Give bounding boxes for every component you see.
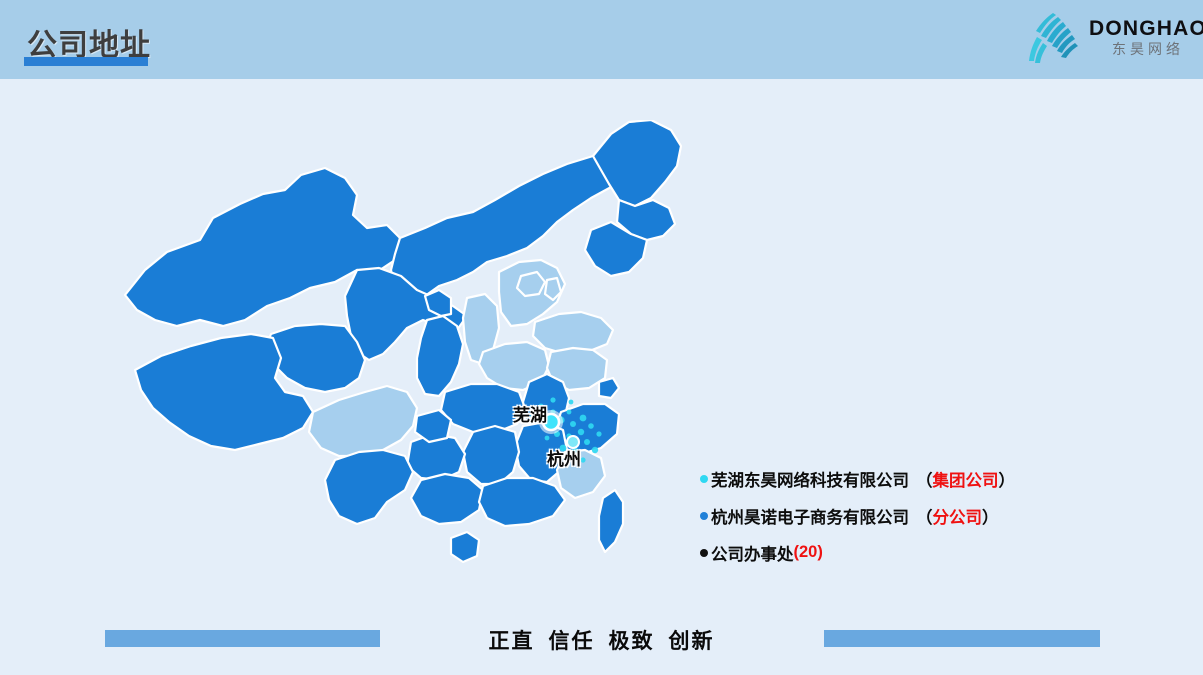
legend-paren-close: ）: [982, 504, 999, 528]
china-map[interactable]: 芜湖 杭州: [95, 120, 695, 610]
legend-company-tag: 分公司: [933, 504, 983, 528]
slogan-word-4: 创新: [669, 625, 715, 655]
legend-company-name: 杭州昊诺电子商务有限公司: [711, 504, 909, 528]
province-guangxi: [411, 474, 483, 524]
province-hunan: [463, 426, 519, 484]
legend-item-branch[interactable]: 杭州昊诺电子商务有限公司 （ 分公司 ）: [700, 497, 1130, 534]
legend-paren-open: （: [916, 467, 933, 491]
legend-company-name: 公司办事处: [711, 541, 794, 565]
legend-item-offices[interactable]: 公司办事处 (20): [700, 534, 1130, 571]
legend-company-tag: 集团公司: [933, 467, 999, 491]
province-shaanxi: [417, 316, 463, 396]
slogan-word-1: 正直: [489, 625, 535, 655]
donghao-fan-logo-icon: [1023, 10, 1085, 68]
company-legend: 芜湖东昊网络科技有限公司 （ 集团公司 ） 杭州昊诺电子商务有限公司 （ 分公司…: [700, 460, 1130, 571]
legend-item-headquarters[interactable]: 芜湖东昊网络科技有限公司 （ 集团公司 ）: [700, 460, 1130, 497]
province-beijing: [517, 272, 545, 296]
legend-company-name: 芜湖东昊网络科技有限公司: [711, 467, 909, 491]
legend-paren-open: （: [916, 504, 933, 528]
legend-office-count: (20): [794, 543, 823, 562]
province-hainan: [451, 532, 479, 562]
china-map-svg: [95, 120, 695, 610]
province-guangdong: [479, 478, 565, 526]
province-taiwan: [599, 490, 623, 552]
legend-bullet-black-icon: [700, 549, 708, 557]
province-heilongjiang: [593, 120, 681, 206]
slogan-word-3: 极致: [609, 625, 655, 655]
legend-bullet-cyan-icon: [700, 475, 708, 483]
map-label-wuhu: 芜湖: [513, 401, 547, 426]
legend-paren-close: ）: [999, 467, 1016, 491]
footer-slogan: 正直信任极致创新: [0, 625, 1203, 655]
logo-text-block: DONGHAO 东昊网络: [1089, 17, 1203, 58]
slogan-word-2: 信任: [549, 625, 595, 655]
page-header: 公司地址 DONGHAO 东昊网络: [0, 0, 1203, 79]
legend-bullet-blue-icon: [700, 512, 708, 520]
logo-english-name: DONGHAO: [1089, 17, 1203, 40]
province-shanghai: [599, 378, 619, 398]
map-label-hangzhou: 杭州: [547, 445, 581, 470]
title-underline-bar: [24, 57, 148, 66]
province-chongqing: [415, 410, 451, 442]
logo-chinese-name: 东昊网络: [1089, 40, 1203, 58]
province-sichuan: [309, 386, 417, 456]
company-logo: DONGHAO 东昊网络: [1023, 8, 1191, 70]
province-yunnan: [325, 450, 413, 524]
